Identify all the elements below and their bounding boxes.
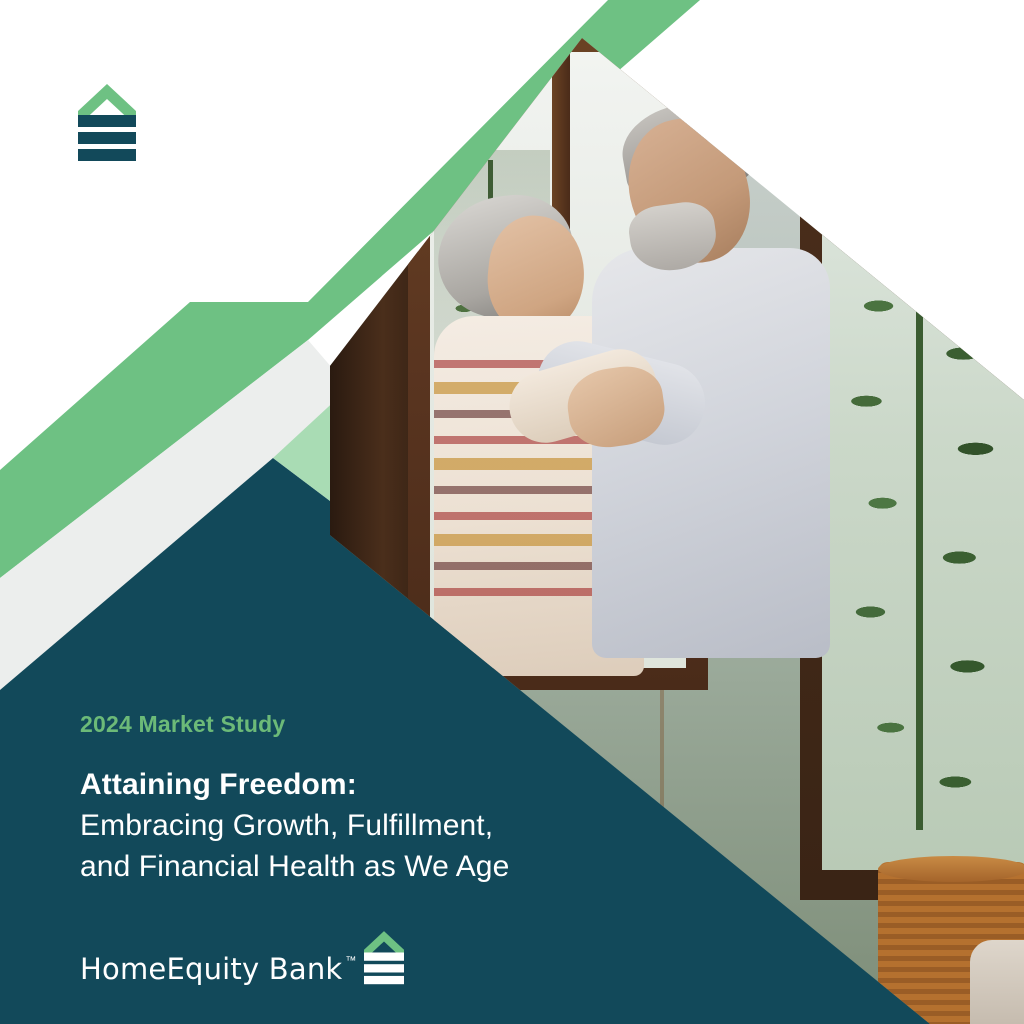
brand-mark-footer [364, 931, 404, 985]
brand-wordmark: HomeEquity Bank ™ [80, 930, 404, 984]
eyebrow-label: 2024 Market Study [80, 712, 620, 737]
brand-bar-2 [364, 964, 404, 972]
brand-mark-top [78, 84, 136, 162]
headline-line-1: Embracing Growth, Fulfillment, [80, 806, 620, 847]
headline-lead: Attaining Freedom: [80, 765, 620, 806]
headline-line-2: and Financial Health as We Age [80, 847, 620, 888]
page-title: Attaining Freedom: Embracing Growth, Ful… [80, 765, 620, 887]
cover-text-block: 2024 Market Study Attaining Freedom: Emb… [80, 712, 620, 888]
brand-bar-1 [78, 115, 136, 127]
report-cover: 2024 Market Study Attaining Freedom: Emb… [0, 0, 1024, 1024]
brand-bar-3 [364, 976, 404, 984]
brand-bar-1 [364, 952, 404, 960]
brand-name: HomeEquity Bank [80, 955, 342, 984]
trademark-symbol: ™ [345, 956, 356, 967]
photo-rattan-stool-top [878, 856, 1024, 882]
photo-man-torso [592, 248, 830, 658]
photo-cushion [970, 940, 1024, 1024]
brand-bar-3 [78, 149, 136, 161]
brand-bar-2 [78, 132, 136, 144]
